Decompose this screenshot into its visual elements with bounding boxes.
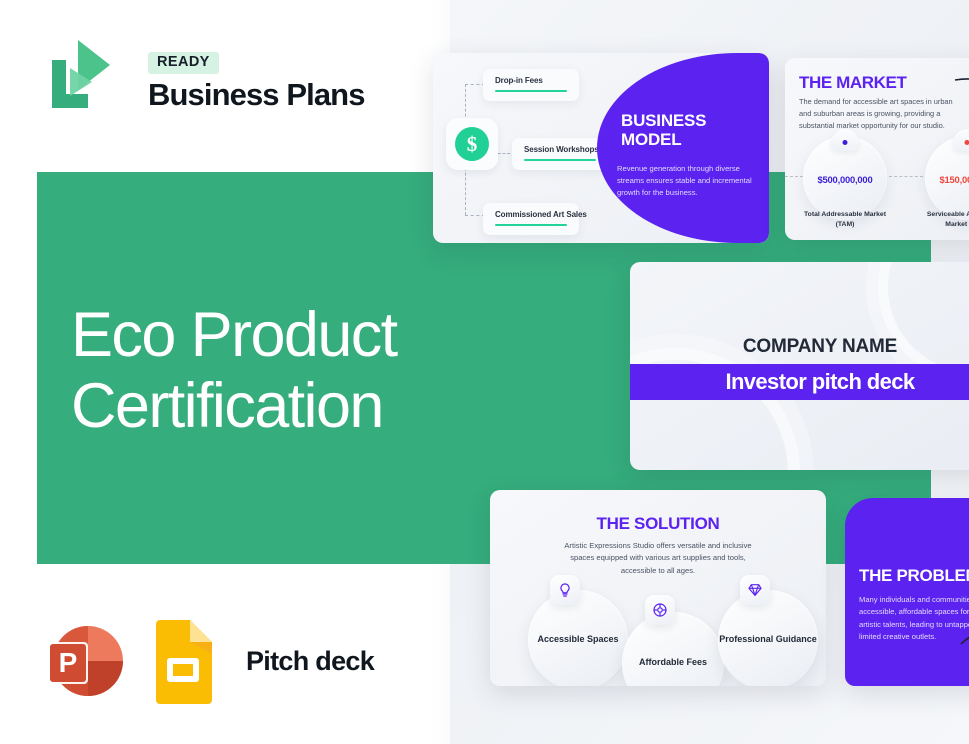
format-label: Pitch deck [246, 646, 374, 677]
solution-node[interactable]: Affordable Fees [622, 612, 724, 686]
slide-the-market[interactable]: THE MARKET The demand for accessible art… [785, 58, 969, 240]
solution-node-label: Affordable Fees [639, 657, 707, 669]
underline-accent [495, 224, 567, 226]
ready-badge: READY [148, 52, 219, 74]
revenue-stream-card[interactable]: Commissioned Art Sales [483, 203, 579, 235]
dollar-icon: $ [455, 127, 489, 161]
metric-value: $150,000,000 [925, 174, 969, 185]
slide-description: The demand for accessible art spaces in … [799, 96, 955, 132]
revenue-stream-label: Drop-in Fees [495, 76, 567, 85]
curved-arrow-icon [953, 74, 969, 116]
gauge-dot [843, 140, 848, 145]
underline-accent [495, 90, 567, 92]
slide-description: Artistic Expressions Studio offers versa… [552, 540, 764, 577]
metric-value: $500,000,000 [803, 174, 887, 185]
connector-line-bottom [465, 215, 485, 216]
slide-business-model[interactable]: $ Drop-in Fees Session Workshops Commiss… [433, 53, 769, 243]
brand-name: Business Plans [148, 79, 365, 110]
powerpoint-icon[interactable]: P [40, 618, 126, 704]
preview-canvas: $ Drop-in Fees Session Workshops Commiss… [0, 0, 969, 744]
metric-gauge: $150,000,000 [925, 136, 969, 220]
slide-subtitle: Investor pitch deck [725, 369, 914, 395]
revenue-stream-card[interactable]: Drop-in Fees [483, 69, 579, 101]
slide-the-solution[interactable]: THE SOLUTION Artistic Expressions Studio… [490, 490, 826, 686]
lightbulb-icon [550, 575, 580, 605]
solution-node-label: Accessible Spaces [537, 634, 618, 646]
solution-node[interactable]: Professional Guidance [718, 590, 818, 686]
company-name: COMPANY NAME [630, 336, 969, 358]
dashed-connector [889, 176, 923, 177]
slide-title: THE SOLUTION [490, 514, 826, 534]
slide-description: Many individuals and communities lack ac… [859, 594, 969, 643]
page-title: Eco Product Certification [71, 300, 397, 441]
underline-accent [524, 159, 596, 161]
revenue-stream-label: Commissioned Art Sales [495, 210, 567, 219]
solution-node-label: Professional Guidance [719, 634, 817, 646]
format-row: P Pitch deck [40, 618, 374, 704]
connector-line-top [465, 84, 485, 85]
slide-investor-pitch-deck[interactable]: COMPANY NAME Investor pitch deck [630, 262, 969, 470]
gauge-dot [965, 140, 969, 145]
metric-gauge: $500,000,000 [803, 136, 887, 220]
solution-node[interactable]: Accessible Spaces [528, 590, 628, 686]
target-icon [645, 595, 675, 625]
slide-description: Revenue generation through diverse strea… [617, 163, 755, 198]
metric-caption: Total Addressable Market (TAM) [794, 210, 896, 229]
swoosh-icon [959, 624, 969, 654]
brand-logo-group[interactable]: READY Business Plans [42, 34, 422, 120]
revenue-stream-label: Session Workshops [524, 145, 596, 154]
slide-title: THE PROBLEM [859, 566, 969, 586]
svg-text:P: P [59, 647, 78, 678]
metric-caption: Serviceable Addressable Market (SAM) [916, 210, 969, 229]
dollar-icon-container: $ [446, 118, 498, 170]
slide-title: BUSINESS MODEL [621, 111, 755, 149]
green-play-logo-icon [42, 38, 114, 114]
google-slides-icon[interactable] [150, 618, 216, 704]
title-band: Investor pitch deck [630, 364, 969, 400]
slide-the-problem[interactable]: THE PROBLEM Many individuals and communi… [845, 498, 969, 686]
dashed-connector [785, 176, 803, 177]
revenue-stream-card[interactable]: Session Workshops [512, 138, 608, 170]
slide-title: THE MARKET [799, 73, 906, 93]
diamond-icon [740, 575, 770, 605]
